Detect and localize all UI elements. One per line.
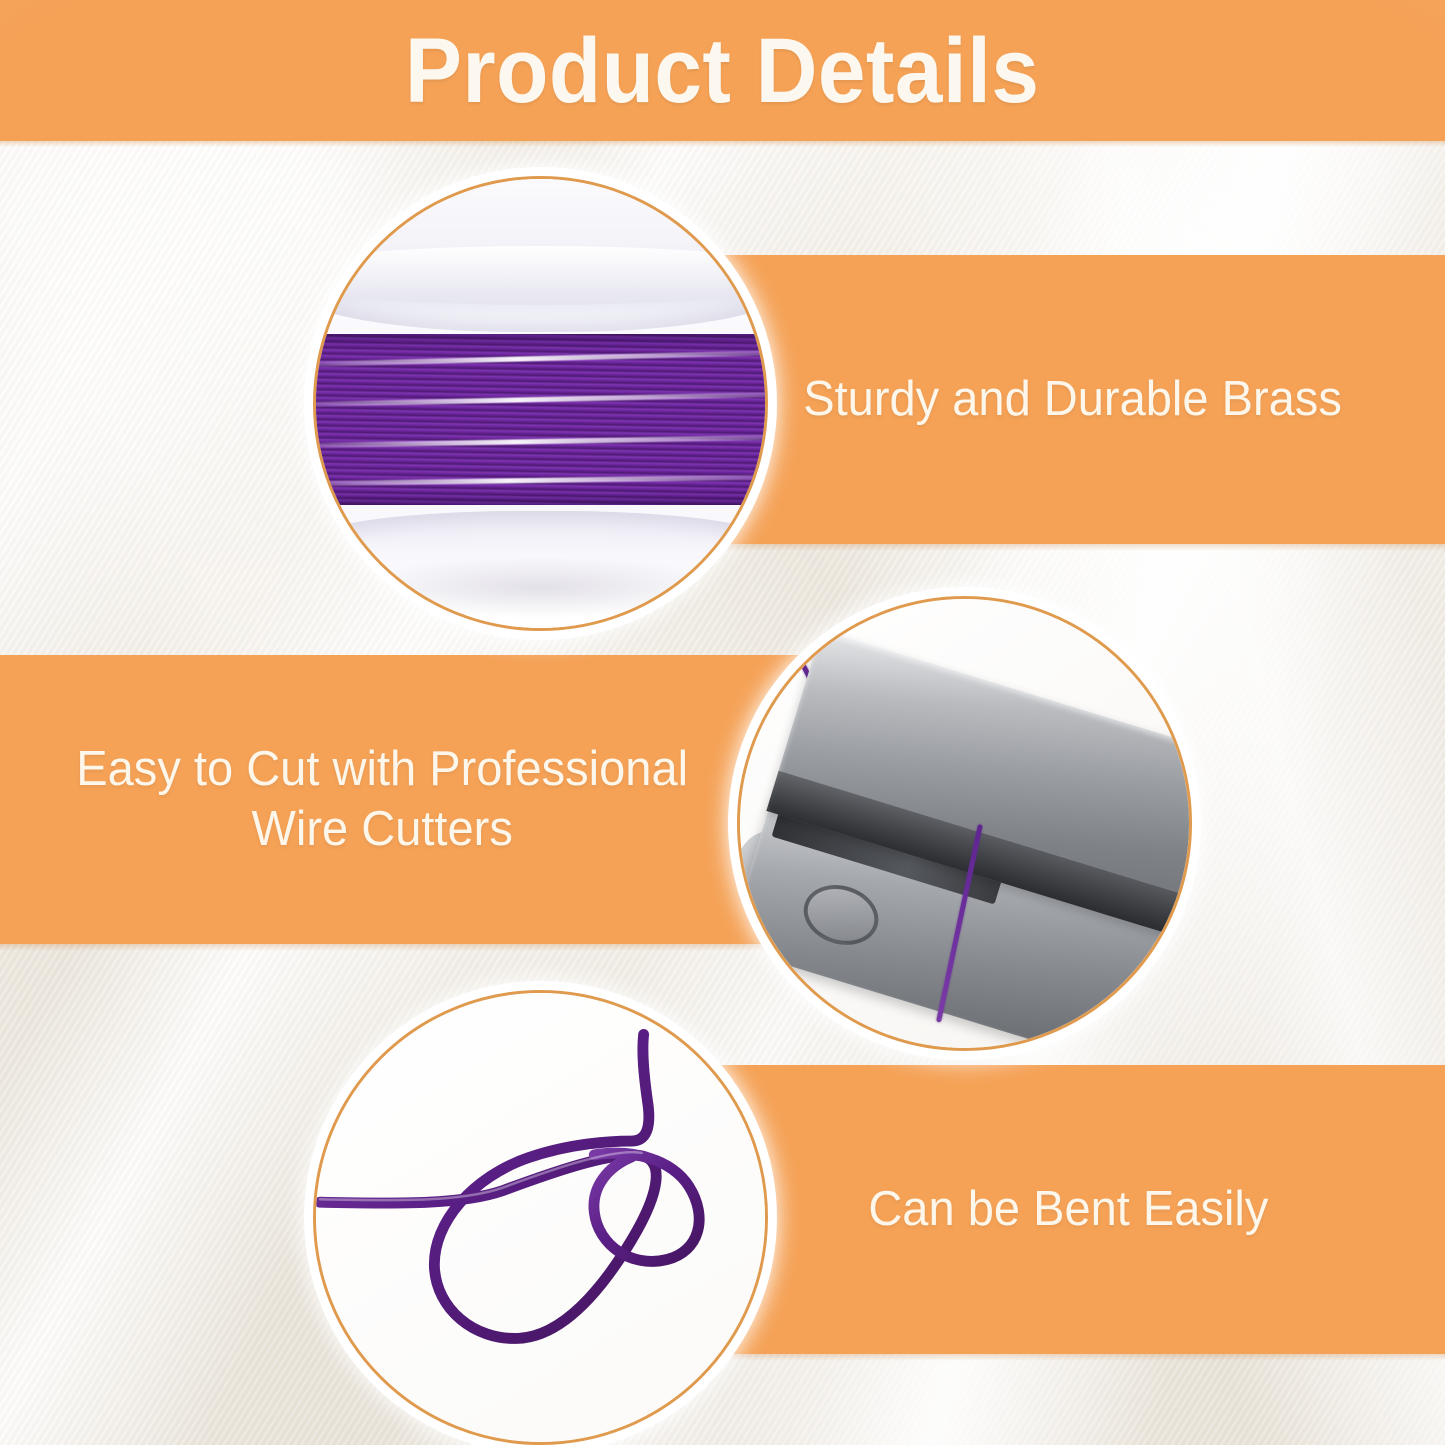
wire-spool-photo-inner	[316, 179, 765, 628]
spool-shadow	[343, 556, 738, 619]
feature-label-easy-cut: Easy to Cut with Professional Wire Cutte…	[76, 740, 809, 860]
header-banner: Product Details	[0, 0, 1445, 141]
bent-wire-photo	[313, 990, 768, 1445]
product-details-poster: Product Details Sturdy and Durable Brass…	[0, 0, 1445, 1445]
page-title: Product Details	[405, 25, 1040, 117]
feature-label-sturdy-brass: Sturdy and Durable Brass	[803, 370, 1342, 430]
wire-cutter-photo	[737, 596, 1192, 1051]
feature-label-easy-cut-line1: Easy to Cut with Professional	[76, 740, 688, 800]
feature-label-bend-easily: Can be Bent Easily	[868, 1180, 1268, 1240]
bent-wire-illustration	[316, 993, 765, 1442]
bent-wire-photo-inner	[316, 993, 765, 1442]
bent-wire-path-left	[320, 1034, 656, 1338]
wire-spool-photo	[313, 176, 768, 631]
feature-label-easy-cut-line2: Wire Cutters	[76, 800, 688, 860]
wire-cutter-photo-inner	[740, 599, 1189, 1048]
spool-body	[316, 179, 765, 628]
spool-top-rim	[313, 246, 768, 304]
